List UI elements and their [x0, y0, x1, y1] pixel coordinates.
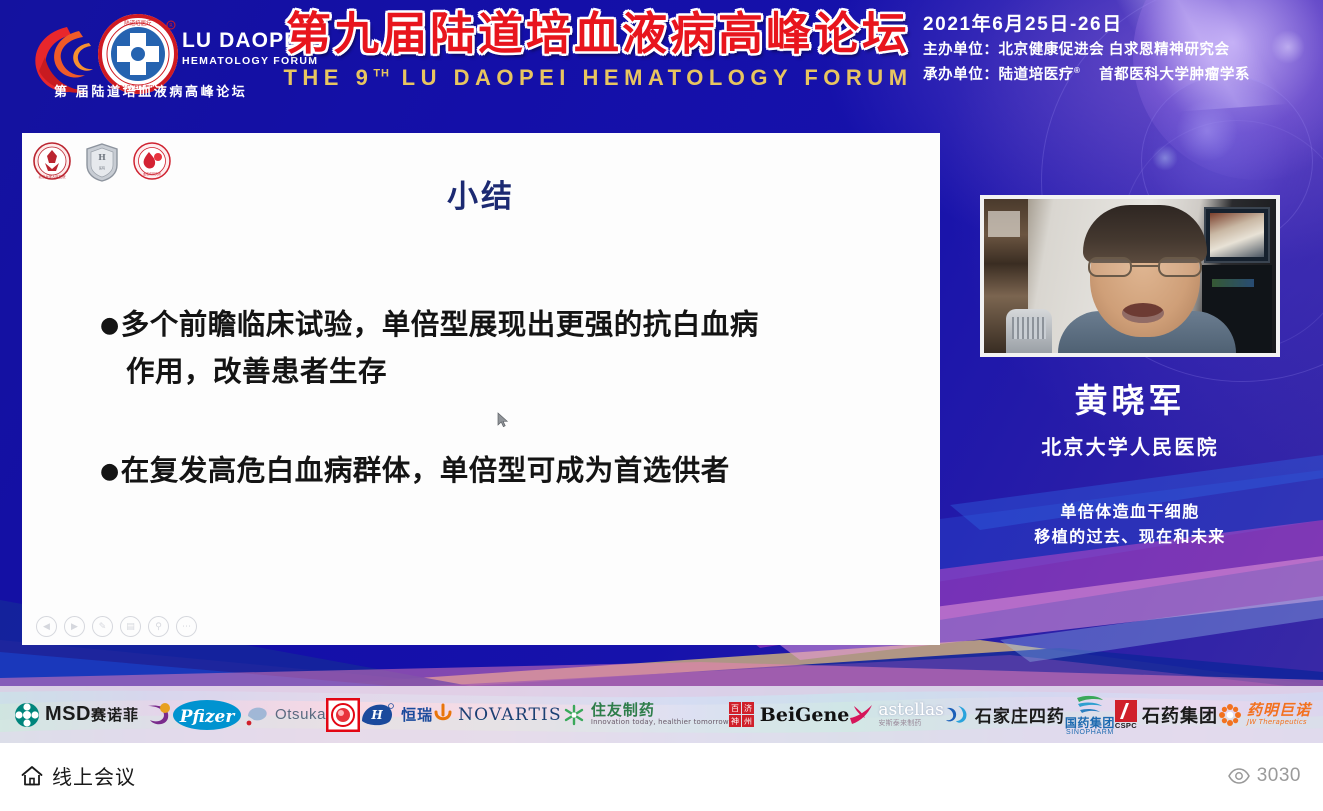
home-nav[interactable]: 线上会议	[20, 761, 136, 790]
slide-bullet-list: ●多个前瞻临床试验，单倍型展现出更强的抗白血病 作用，改善患者生存 ●在复发高危…	[100, 301, 890, 494]
prev-slide-button[interactable]: ◀	[36, 616, 57, 637]
sponsor-sanofi[interactable]: 赛诺菲	[91, 702, 172, 728]
page-footer: 线上会议 3030	[0, 743, 1323, 811]
svg-text:H: H	[98, 152, 106, 162]
hengrui-logo-icon: H	[360, 701, 396, 729]
sinopharm-cn-label: 国药集团	[1065, 717, 1115, 730]
event-sub-title: THE 9TH LU DAOPEI HEMATOLOGY FORUM	[273, 65, 923, 91]
speaker-video-feed[interactable]	[980, 195, 1280, 357]
sponsor-novartis[interactable]: NOVARTIS	[433, 703, 562, 727]
co-organizer-post: 首都医科大学肿瘤学系	[1099, 67, 1250, 83]
beigene-cn-logo-icon: 百 济 神 州	[729, 702, 755, 728]
co-organizer-pre: 承办单位：陆道培医疗	[923, 67, 1074, 83]
bullet-text-line-1: 在复发高危白血病群体，单倍型可成为首选供者	[121, 454, 730, 487]
bullet-text-line-1: 多个前瞻临床试验，单倍型展现出更强的抗白血病	[121, 308, 759, 341]
home-label: 线上会议	[52, 761, 136, 790]
live-stream-page: 陆道培医疗 LU DAOPEI MEDICAL R LU DAOPEI HEMA…	[0, 0, 1323, 811]
slide-grid-button[interactable]: ▤	[120, 616, 141, 637]
event-meta-block: 2021年6月25日-26日 主办单位：北京健康促进会 白求恩精神研究会 承办单…	[923, 12, 1303, 88]
event-title-block: 第九届陆道培血液病高峰论坛 THE 9TH LU DAOPEI HEMATOLO…	[273, 10, 923, 91]
sponsor-astellas[interactable]: astellas 安斯泰来制药	[849, 702, 944, 727]
astellas-cn-label: 安斯泰来制药	[878, 720, 944, 727]
more-options-button[interactable]: ⋯	[176, 616, 197, 637]
jw-therapeutics-logo-icon	[1218, 703, 1242, 727]
sanofi-label: 赛诺菲	[91, 704, 139, 725]
hengrui-label: 恒瑞	[401, 704, 433, 725]
svg-text:H: H	[370, 708, 383, 722]
sinopharm-en-label: SINOPHARM	[1066, 729, 1114, 736]
cspc-logo-icon	[1115, 700, 1137, 722]
red-square-logo-icon	[326, 698, 360, 732]
novartis-label: NOVARTIS	[458, 705, 562, 725]
speaker-mouth	[1122, 303, 1164, 323]
event-header-banner: 陆道培医疗 LU DAOPEI MEDICAL R LU DAOPEI HEMA…	[0, 0, 1323, 110]
sponsor-sjz-siyao[interactable]: 石家庄四药	[944, 702, 1065, 727]
sumitomo-label: 住友制药	[591, 702, 729, 719]
otsuka-label: Otsuka	[275, 706, 326, 723]
viewer-count-group: 3030	[1228, 765, 1301, 787]
event-main-title: 第九届陆道培血液病高峰论坛	[273, 10, 923, 59]
speaker-topic-line-2: 移植的过去、现在和未来	[960, 525, 1300, 550]
sinopharm-logo-icon	[1073, 693, 1107, 717]
speaker-name: 黄晓军	[960, 383, 1300, 419]
wall-monitor-icon	[1204, 207, 1270, 263]
sponsor-pfizer[interactable]: Pfizer	[172, 698, 242, 732]
presentation-controls[interactable]: ◀ ▶ ✎ ▤ ⚲ ⋯	[36, 616, 197, 637]
otsuka-logo-icon	[242, 702, 270, 728]
bullet-dot-icon: ●	[100, 459, 120, 484]
live-video-area: 陆道培医疗 LU DAOPEI MEDICAL R LU DAOPEI HEMA…	[0, 0, 1323, 743]
svg-text:Pfizer: Pfizer	[179, 707, 236, 727]
sub-title-pre: THE 9	[283, 65, 373, 90]
sponsor-beigene[interactable]: 百 济 神 州 BeiGene	[729, 702, 850, 728]
event-date: 2021年6月25日-26日	[923, 12, 1303, 38]
presentation-slide[interactable]: 北京大学人民医院 H 医院 血液病研究所 小结	[22, 133, 940, 645]
next-slide-button[interactable]: ▶	[64, 616, 85, 637]
brand-chinese-text: 第 届陆道培血液病高峰论坛	[54, 81, 247, 100]
pfizer-logo-icon: Pfizer	[172, 698, 242, 732]
svg-text:医院: 医院	[99, 165, 105, 170]
sponsor-jw-therapeutics[interactable]: 药明巨诺 JW Therapeutics	[1218, 703, 1311, 727]
pen-tool-button[interactable]: ✎	[92, 616, 113, 637]
sjz-siyao-label: 石家庄四药	[975, 702, 1065, 727]
slide-title: 小结	[22, 171, 940, 216]
forum-logo: 陆道培医疗 LU DAOPEI MEDICAL R LU DAOPEI HEMA…	[22, 8, 277, 104]
svg-text:陆道培医疗: 陆道培医疗	[124, 19, 152, 27]
speaker-topic-line-1: 单倍体造血干细胞	[960, 500, 1300, 525]
astellas-logo-icon	[849, 704, 873, 726]
zoom-button[interactable]: ⚲	[148, 616, 169, 637]
event-co-organizer: 承办单位：陆道培医疗® 首都医科大学肿瘤学系	[923, 63, 1303, 88]
bullet-text-line-2: 作用，改善患者生存	[100, 348, 890, 395]
sumitomo-logo-icon	[562, 703, 586, 727]
slide-bullet-item: ●在复发高危白血病群体，单倍型可成为首选供者	[100, 447, 890, 494]
svg-text:州: 州	[744, 717, 752, 726]
sponsor-hengrui[interactable]: H 恒瑞	[360, 701, 433, 729]
svg-text:百: 百	[731, 704, 739, 713]
cspc-en-label: CSPC	[1115, 722, 1137, 730]
speaker-topic: 单倍体造血干细胞 移植的过去、现在和未来	[960, 500, 1300, 550]
speaker-hair	[1083, 205, 1207, 263]
registered-mark-icon: ®	[1074, 66, 1081, 75]
bokeh-circle-icon	[1152, 145, 1178, 171]
sanofi-logo-icon	[144, 702, 172, 728]
astellas-label: astellas	[878, 702, 944, 720]
sponsor-red-square[interactable]	[326, 698, 360, 732]
svg-text:神: 神	[731, 716, 739, 726]
sponsor-sinopharm[interactable]: 国药集团 SINOPHARM	[1065, 693, 1115, 737]
eyeglasses-icon	[1088, 257, 1202, 277]
home-icon	[20, 764, 44, 788]
cspc-cn-label: 石药集团	[1142, 702, 1218, 728]
sponsor-msd[interactable]: MSD	[14, 702, 91, 728]
sjz-siyao-logo-icon	[944, 703, 970, 727]
jw-cn-label: 药明巨诺	[1247, 703, 1311, 719]
bullet-dot-icon: ●	[100, 313, 120, 338]
sponsor-sumitomo[interactable]: 住友制药 Innovation today, healthier tomorro…	[562, 702, 729, 726]
sponsor-cspc[interactable]: CSPC 石药集团	[1115, 700, 1218, 730]
sponsor-logo-bar: MSD 赛诺菲 Pfizer Otsuk	[0, 686, 1323, 743]
speaker-organization: 北京大学人民医院	[960, 431, 1300, 460]
sub-title-post: LU DAOPEI HEMATOLOGY FORUM	[402, 65, 913, 90]
svg-text:济: 济	[744, 703, 752, 713]
sumitomo-tagline: Innovation today, healthier tomorrow	[591, 719, 729, 727]
svg-text:R: R	[169, 23, 173, 29]
event-organizer: 主办单位：北京健康促进会 白求恩精神研究会	[923, 38, 1303, 63]
slide-bullet-item: ●多个前瞻临床试验，单倍型展现出更强的抗白血病 作用，改善患者生存	[100, 301, 890, 395]
microphone-icon	[1006, 309, 1052, 353]
speaker-panel: 黄晓军 北京大学人民医院 单倍体造血干细胞 移植的过去、现在和未来	[960, 195, 1300, 550]
sponsor-otsuka[interactable]: Otsuka	[242, 702, 326, 728]
eye-icon	[1228, 768, 1250, 784]
beigene-label: BeiGene	[760, 704, 850, 726]
msd-label: MSD	[45, 703, 91, 726]
viewer-count: 3030	[1257, 765, 1301, 787]
sponsor-list: MSD 赛诺菲 Pfizer Otsuk	[0, 686, 1323, 743]
msd-logo-icon	[14, 702, 40, 728]
sub-title-sup: TH	[373, 67, 390, 79]
novartis-logo-icon	[433, 703, 453, 727]
jw-en-label: JW Therapeutics	[1247, 719, 1311, 726]
